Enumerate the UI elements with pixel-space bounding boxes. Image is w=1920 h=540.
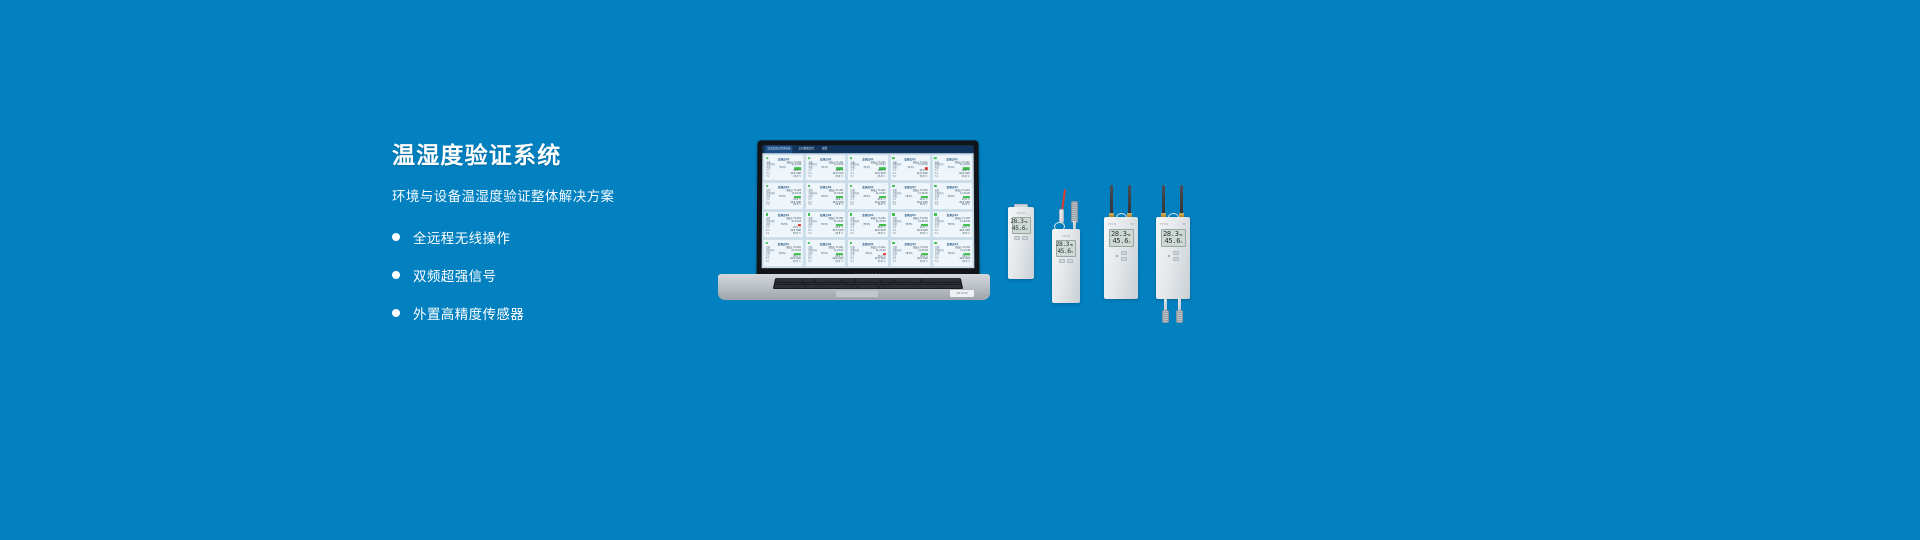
monitor-card[interactable]: 监测点01设备测温仪 T1-001采集时间11:23:05电量78.5%T-12… bbox=[763, 211, 804, 238]
monitor-card-row-value: 78.5% bbox=[821, 253, 828, 256]
monitor-card-row-value: 25.8 ℃ bbox=[962, 176, 970, 179]
lcd-humidity-unit: % bbox=[1071, 251, 1073, 254]
monitor-card[interactable]: 监测点01设备测温仪 T1-001采集时间11:23:05电量78.5%T-12… bbox=[805, 239, 846, 267]
tab-realtime-data[interactable]: 实时数据监控 bbox=[797, 145, 817, 153]
laptop-keyboard[interactable] bbox=[773, 278, 963, 289]
laptop-illustration: 温湿度验证管理系统 实时数据监控 报警 监测点01设备测温仪 T1-001采集时… bbox=[718, 140, 990, 300]
lcd-humidity-value: 45.6 bbox=[1012, 226, 1025, 232]
lcd-temperature-unit: ℃ bbox=[1024, 221, 1027, 224]
monitor-card-row: T-225.8 ℃ bbox=[850, 176, 885, 179]
monitor-card-row-value: 25.8 ℃ bbox=[835, 233, 843, 236]
monitor-card-row-value: 78.5% bbox=[865, 253, 872, 256]
monitor-card-row: T-225.8 ℃ bbox=[893, 233, 928, 236]
device-lcd-display: 28.3 ℃ 45.6 % bbox=[1109, 229, 1134, 247]
monitor-card[interactable]: 监测点01设备测温仪 T1-001采集时间11:23:05电量78.5%T-12… bbox=[932, 154, 973, 181]
monitor-card-row: T-225.8 ℃ bbox=[808, 233, 843, 236]
device-lcd-display: 28.3 ℃ 45.6 % bbox=[1012, 217, 1031, 234]
monitor-card[interactable]: 监测点01设备测温仪 T1-001采集时间11:23:05电量78.5%T-12… bbox=[890, 154, 931, 181]
list-item: 双频超强信号 bbox=[392, 265, 722, 285]
monitor-card-row-value: 78.5% bbox=[907, 167, 914, 170]
monitor-card-row-value: 78.5% bbox=[948, 224, 955, 227]
monitor-card-row: T-225.8 ℃ bbox=[766, 176, 801, 179]
device-button-right[interactable] bbox=[1067, 259, 1073, 263]
monitor-card-title: 监测点01 bbox=[766, 157, 801, 161]
device-brand-label: ENON bbox=[1160, 223, 1168, 226]
device-lcd-display: 28.3 ℃ 45.6 % bbox=[1161, 229, 1186, 247]
lcd-humidity-value: 45.6 bbox=[1057, 249, 1070, 255]
keyboard-key[interactable] bbox=[879, 287, 899, 289]
monitor-card-row-value: 78.5% bbox=[948, 196, 955, 199]
monitor-card[interactable]: 监测点01设备测温仪 T1-001采集时间11:23:05电量78.5%T-12… bbox=[805, 154, 846, 181]
status-dot-icon bbox=[765, 242, 768, 245]
monitor-card-row: T-225.8 ℃ bbox=[808, 204, 843, 207]
device-status-led bbox=[1168, 255, 1170, 257]
monitor-card-row: T-225.8 ℃ bbox=[935, 204, 970, 207]
antenna-icon bbox=[1180, 185, 1183, 215]
monitor-card-title: 监测点01 bbox=[935, 157, 970, 161]
monitor-card-row-label: T-2 bbox=[893, 233, 896, 236]
monitor-card[interactable]: 监测点01设备测温仪 T1-001采集时间11:23:05电量78.5%T-12… bbox=[890, 239, 931, 267]
device-brand-label: ENON bbox=[1108, 223, 1116, 226]
probe-cable-icon bbox=[1061, 189, 1066, 211]
device-button-down[interactable] bbox=[1121, 257, 1127, 261]
bullet-label: 外置高精度传感器 bbox=[413, 303, 524, 323]
monitor-card-row: T-225.8 ℃ bbox=[808, 176, 843, 179]
monitor-card-row-label: T-2 bbox=[893, 261, 896, 264]
monitor-card-row-label: T-2 bbox=[808, 176, 811, 179]
monitor-card-title: 监测点01 bbox=[850, 157, 885, 161]
monitor-card-row: T-225.8 ℃ bbox=[808, 261, 843, 264]
device-logger-basic: ENON 28.3 ℃ 45.6 % bbox=[1008, 207, 1034, 279]
monitor-card-row-label: T-2 bbox=[850, 204, 853, 207]
feature-bullet-list: 全远程无线操作 双频超强信号 外置高精度传感器 bbox=[392, 227, 722, 323]
monitor-card-row-value: 78.5% bbox=[779, 167, 786, 170]
tab-monitoring[interactable]: 温湿度验证管理系统 bbox=[765, 145, 792, 153]
lcd-humidity-value: 45.6 bbox=[1113, 238, 1129, 245]
page-subtitle: 环境与设备温湿度验证整体解决方案 bbox=[392, 185, 722, 205]
monitor-card[interactable]: 监测点01设备测温仪 T1-001采集时间11:23:05电量78.5%T-12… bbox=[763, 239, 804, 267]
status-dot-icon bbox=[892, 242, 895, 245]
monitor-card-row: T-225.8 ℃ bbox=[850, 261, 885, 264]
probe-mesh-sensor-icon bbox=[1176, 310, 1183, 323]
tab-alarm[interactable]: 报警 bbox=[820, 145, 829, 153]
status-dot-icon bbox=[892, 157, 894, 159]
lcd-temperature-unit: ℃ bbox=[1070, 244, 1073, 247]
monitor-card-row-value: 25.8 ℃ bbox=[920, 204, 928, 207]
antenna-icon bbox=[1162, 185, 1165, 215]
monitor-card-row: T-225.8 ℃ bbox=[893, 261, 928, 264]
keyboard-key[interactable] bbox=[900, 287, 921, 289]
monitor-card-row-value: 78.5% bbox=[821, 224, 828, 227]
probe-mesh-sensor-icon bbox=[1071, 201, 1078, 223]
keyboard-key[interactable] bbox=[774, 287, 795, 289]
device-lcd-display: 28.3 ℃ 45.6 % bbox=[1056, 240, 1076, 257]
status-dot-icon bbox=[934, 213, 937, 215]
monitor-card-row-value: 78.5% bbox=[905, 196, 912, 199]
monitor-card-row-label: T-2 bbox=[766, 204, 769, 207]
monitor-card-title: 监测点01 bbox=[893, 157, 928, 161]
status-dot-icon bbox=[765, 213, 768, 215]
device-wireless-b: ENON HB 28.3 ℃ 45.6 % bbox=[1156, 185, 1190, 299]
monitor-card-title: 监测点01 bbox=[808, 157, 843, 161]
monitor-card-row-value: 25.8 ℃ bbox=[920, 261, 928, 264]
probe-mesh-sensor-icon bbox=[1162, 310, 1169, 323]
monitor-card-row-label: T-2 bbox=[766, 233, 769, 236]
monitor-card-row-label: T-2 bbox=[935, 233, 938, 236]
monitor-card-grid: 监测点01设备测温仪 T1-001采集时间11:23:05电量78.5%T-12… bbox=[762, 153, 975, 268]
monitor-card-row-value: 78.5% bbox=[779, 196, 786, 199]
monitor-card-row-value: 25.8 ℃ bbox=[793, 233, 801, 236]
keyboard-key[interactable] bbox=[942, 287, 963, 289]
probe-stem-icon bbox=[1073, 221, 1076, 229]
device-wireless-a: ENON HB 28.3 ℃ 45.6 % bbox=[1104, 185, 1138, 299]
device-logger-probe: ENON 28.3 ℃ 45.6 % bbox=[1052, 191, 1080, 303]
keyboard-key[interactable] bbox=[816, 287, 837, 289]
antenna-icon bbox=[1128, 185, 1131, 215]
monitor-card-row-value: 78.5% bbox=[863, 224, 870, 227]
monitor-card-row-value: 25.8 ℃ bbox=[793, 261, 801, 264]
monitor-card-row-value: 25.8 ℃ bbox=[835, 204, 843, 207]
monitor-card-row-label: T-2 bbox=[935, 261, 938, 264]
monitor-card-row-value: 25.8 ℃ bbox=[962, 261, 970, 264]
probe-tip-icon bbox=[1059, 209, 1064, 223]
device-brand-label: ENON bbox=[1011, 212, 1031, 215]
laptop-trackpad[interactable] bbox=[836, 291, 878, 297]
keyboard-key[interactable] bbox=[858, 287, 878, 289]
device-model-label: HB bbox=[1182, 223, 1186, 226]
page-title: 温湿度验证系统 bbox=[392, 143, 722, 171]
monitor-card-row-value: 25.8 ℃ bbox=[920, 176, 928, 179]
copy-block: 温湿度验证系统 环境与设备温湿度验证整体解决方案 全远程无线操作 双频超强信号 … bbox=[392, 143, 722, 341]
monitor-card-row: T-225.8 ℃ bbox=[850, 233, 885, 236]
monitor-card-row-value: 25.8 ℃ bbox=[835, 261, 843, 264]
keyboard-key[interactable] bbox=[795, 287, 816, 289]
monitor-card-row-label: T-2 bbox=[893, 176, 896, 179]
monitor-card-row-value: 78.5% bbox=[905, 224, 912, 227]
monitor-card-row: T-225.8 ℃ bbox=[893, 176, 928, 179]
monitor-card-row-label: T-2 bbox=[850, 233, 853, 236]
monitor-card-row-value: 25.8 ℃ bbox=[878, 261, 886, 264]
monitor-card-row-value: 78.5% bbox=[863, 167, 870, 170]
lcd-humidity-unit: % bbox=[1129, 241, 1131, 244]
monitor-card-row-value: 78.5% bbox=[863, 196, 870, 199]
sensor-device-group: ENON 28.3 ℃ 45.6 % bbox=[1000, 185, 1220, 315]
monitor-card-row: T-225.8 ℃ bbox=[766, 233, 801, 236]
monitor-card-row-value: 25.8 ℃ bbox=[878, 204, 886, 207]
device-button-right[interactable] bbox=[1022, 236, 1028, 240]
monitor-card[interactable]: 监测点01设备测温仪 T1-001采集时间11:23:05电量78.5%T-12… bbox=[847, 154, 888, 181]
status-dot-icon bbox=[934, 157, 937, 159]
status-dot-icon bbox=[766, 157, 769, 159]
laptop-lid: 温湿度验证管理系统 实时数据监控 报警 监测点01设备测温仪 T1-001采集时… bbox=[757, 140, 980, 279]
monitor-card[interactable]: 监测点01设备测温仪 T1-001采集时间11:23:05电量78.5%T-12… bbox=[763, 182, 804, 209]
monitor-card-row-value: 78.5% bbox=[948, 253, 955, 256]
keyboard-key[interactable] bbox=[837, 287, 857, 289]
monitor-card-row-value: 78.5% bbox=[781, 224, 788, 227]
monitor-card-row-label: T-2 bbox=[766, 176, 769, 179]
monitor-card-row-value: 25.8 ℃ bbox=[878, 233, 886, 236]
lcd-humidity-unit: % bbox=[1026, 228, 1028, 231]
monitor-card-row: T-225.8 ℃ bbox=[935, 233, 970, 236]
status-dot-icon bbox=[934, 242, 937, 245]
monitor-card-row-value: 25.8 ℃ bbox=[920, 233, 928, 236]
monitor-card[interactable]: 监测点01设备测温仪 T1-001采集时间11:23:05电量78.5%T-12… bbox=[847, 239, 888, 267]
monitor-card[interactable]: 监测点01设备测温仪 T1-001采集时间11:23:05电量78.5%T-12… bbox=[847, 182, 888, 209]
monitor-card[interactable]: 监测点01设备测温仪 T1-001采集时间11:23:05电量78.5%T-12… bbox=[890, 211, 931, 238]
monitor-card-row-value: 78.5% bbox=[821, 167, 828, 170]
monitor-card[interactable]: 监测点01设备测温仪 T1-001采集时间11:23:05电量78.5%T-12… bbox=[890, 182, 931, 209]
monitor-card-row-value: 25.8 ℃ bbox=[793, 204, 801, 207]
monitor-card-row: T-225.8 ℃ bbox=[935, 176, 970, 179]
device-brand-label: ENON bbox=[1055, 235, 1077, 238]
device-button-up[interactable] bbox=[1121, 251, 1127, 255]
monitor-card-row-value: 78.5% bbox=[779, 253, 786, 256]
status-dot-icon bbox=[892, 213, 895, 215]
monitor-card[interactable]: 监测点01设备测温仪 T1-001采集时间11:23:05电量78.5%T-12… bbox=[763, 154, 804, 181]
keyboard-key[interactable] bbox=[921, 287, 942, 289]
monitor-card-row-value: 25.8 ℃ bbox=[962, 204, 970, 207]
monitor-card-row: T-225.8 ℃ bbox=[893, 204, 928, 207]
monitor-card-row-value: 25.8 ℃ bbox=[962, 233, 970, 236]
monitor-card[interactable]: 监测点01设备测温仪 T1-001采集时间11:23:05电量78.5%T-12… bbox=[932, 211, 973, 238]
bullet-dot-icon bbox=[392, 271, 400, 279]
monitor-card[interactable]: 监测点01设备测温仪 T1-001采集时间11:23:05电量78.5%T-12… bbox=[932, 182, 973, 209]
device-button-down[interactable] bbox=[1173, 257, 1179, 261]
monitor-card[interactable]: 监测点01设备测温仪 T1-001采集时间11:23:05电量78.5%T-12… bbox=[805, 211, 846, 238]
lcd-humidity-value: 45.6 bbox=[1165, 238, 1181, 245]
monitor-card-row: T-225.8 ℃ bbox=[766, 204, 801, 207]
status-dot-icon bbox=[850, 213, 853, 215]
monitor-card-row-label: T-2 bbox=[893, 204, 896, 207]
list-item: 外置高精度传感器 bbox=[392, 303, 722, 323]
monitor-card-row-value: 78.5% bbox=[821, 196, 828, 199]
status-dot-icon bbox=[808, 213, 811, 215]
monitor-card-row-value: 78.5% bbox=[947, 167, 954, 170]
monitor-card-row: T-225.8 ℃ bbox=[935, 261, 970, 264]
laptop-screen: 温湿度验证管理系统 实时数据监控 报警 监测点01设备测温仪 T1-001采集时… bbox=[762, 145, 975, 268]
monitor-card-row-label: T-2 bbox=[808, 233, 811, 236]
monitor-card-row: T-225.8 ℃ bbox=[850, 204, 885, 207]
monitor-card-row-label: T-2 bbox=[935, 176, 938, 179]
monitor-card-row-value: 25.8 ℃ bbox=[878, 176, 886, 179]
monitor-card-row-label: T-2 bbox=[850, 261, 853, 264]
monitor-card-row-value: 78.5% bbox=[906, 253, 913, 256]
device-model-label: HB bbox=[1130, 223, 1134, 226]
monitor-card[interactable]: 监测点01设备测温仪 T1-001采集时间11:23:05电量78.5%T-12… bbox=[932, 239, 973, 267]
lcd-humidity-unit: % bbox=[1181, 241, 1183, 244]
bullet-label: 双频超强信号 bbox=[413, 265, 496, 285]
monitor-card-row-label: T-2 bbox=[850, 176, 853, 179]
app-header-bar: 温湿度验证管理系统 实时数据监控 报警 bbox=[762, 145, 973, 153]
device-button-left[interactable] bbox=[1059, 259, 1065, 263]
bullet-dot-icon bbox=[392, 309, 400, 317]
laptop-base: SN-2018 bbox=[718, 274, 990, 300]
monitor-card-row-value: 25.8 ℃ bbox=[793, 176, 801, 179]
banner-root: 温湿度验证系统 环境与设备温湿度验证整体解决方案 全远程无线操作 双频超强信号 … bbox=[0, 0, 1920, 540]
device-status-led bbox=[1116, 255, 1118, 257]
monitor-card-row-label: T-2 bbox=[808, 261, 811, 264]
device-button-left[interactable] bbox=[1014, 236, 1020, 240]
list-item: 全远程无线操作 bbox=[392, 227, 722, 247]
monitor-card-row-label: T-2 bbox=[766, 261, 769, 264]
laptop-sticker: SN-2018 bbox=[950, 290, 974, 297]
bullet-dot-icon bbox=[392, 233, 400, 241]
antenna-icon bbox=[1110, 185, 1113, 215]
status-dot-icon bbox=[808, 157, 811, 159]
monitor-card[interactable]: 监测点01设备测温仪 T1-001采集时间11:23:05电量78.5%T-12… bbox=[847, 211, 888, 238]
monitor-card-row: T-225.8 ℃ bbox=[766, 261, 801, 264]
monitor-card-row-label: T-2 bbox=[808, 204, 811, 207]
bullet-label: 全远程无线操作 bbox=[413, 227, 510, 247]
monitor-card[interactable]: 监测点01设备测温仪 T1-001采集时间11:23:05电量78.5%T-12… bbox=[805, 182, 846, 209]
monitor-card-row-value: 25.8 ℃ bbox=[835, 176, 843, 179]
keyboard-row bbox=[774, 287, 962, 289]
device-button-up[interactable] bbox=[1173, 251, 1179, 255]
monitor-card-row-label: T-2 bbox=[935, 204, 938, 207]
